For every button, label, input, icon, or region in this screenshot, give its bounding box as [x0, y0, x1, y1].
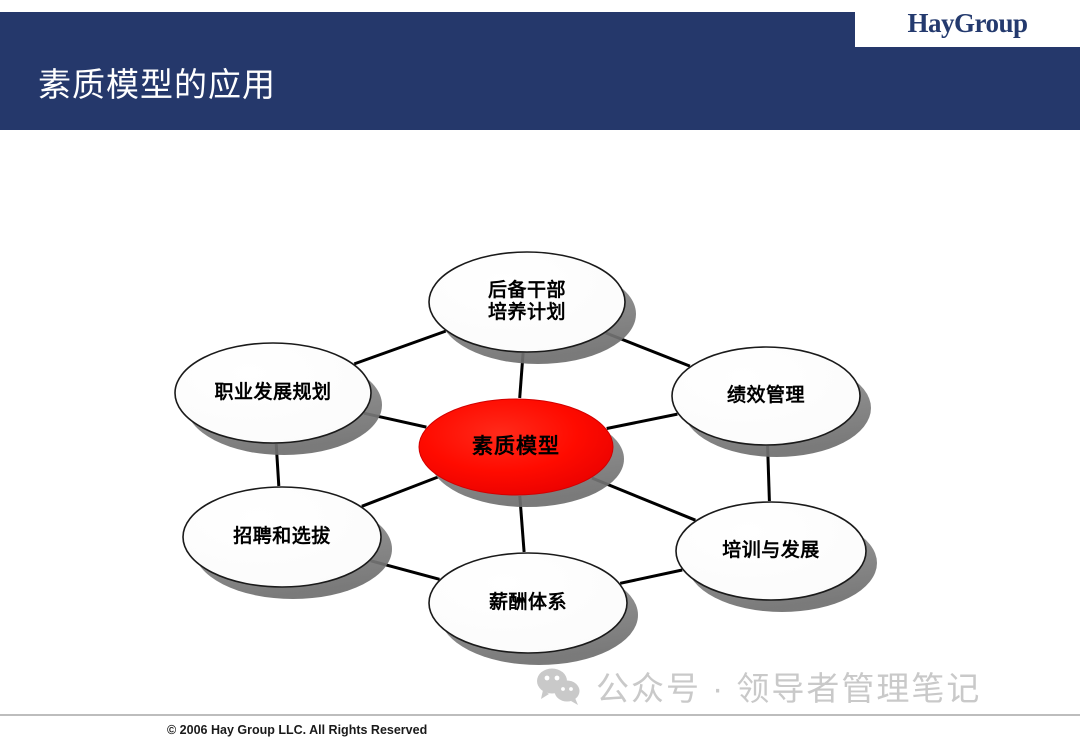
watermark-text: 公众号 · 领导者管理笔记	[596, 662, 981, 710]
competency-model-diagram: 后备干部 培养计划绩效管理培训与发展薪酬体系招聘和选拔职业发展规划素质模型	[0, 130, 1080, 700]
ring-link-career-dev-succession-plan	[354, 331, 445, 364]
node-training-dev[interactable]	[676, 502, 866, 600]
node-recruit-select[interactable]	[183, 487, 381, 587]
slide-header: HayGroup 素质模型的应用	[0, 12, 1080, 130]
node-ellipse-training-dev	[676, 502, 866, 600]
diagram-canvas	[0, 130, 1080, 700]
node-compensation[interactable]	[429, 553, 627, 653]
node-ellipse-compensation	[429, 553, 627, 653]
node-center[interactable]	[419, 399, 613, 495]
node-succession-plan[interactable]	[429, 252, 625, 352]
node-ellipse-center	[419, 399, 613, 495]
node-performance-mgmt[interactable]	[672, 347, 860, 445]
wechat-icon	[536, 667, 582, 705]
node-ellipse-career-dev	[175, 343, 371, 443]
footer-copyright: © 2006 Hay Group LLC. All Rights Reserve…	[167, 723, 427, 737]
node-ellipse-succession-plan	[429, 252, 625, 352]
node-career-dev[interactable]	[175, 343, 371, 443]
page-title: 素质模型的应用	[38, 68, 276, 101]
footer-divider	[0, 714, 1080, 716]
node-ellipse-recruit-select	[183, 487, 381, 587]
wechat-watermark: 公众号 · 领导者管理笔记	[536, 660, 981, 712]
ring-link-training-dev-compensation	[620, 570, 682, 583]
spoke-recruit-select	[362, 477, 439, 506]
haygroup-logo-text: HayGroup	[907, 8, 1027, 39]
node-ellipse-performance-mgmt	[672, 347, 860, 445]
haygroup-logo: HayGroup	[855, 0, 1080, 47]
spoke-performance-mgmt	[607, 414, 678, 428]
